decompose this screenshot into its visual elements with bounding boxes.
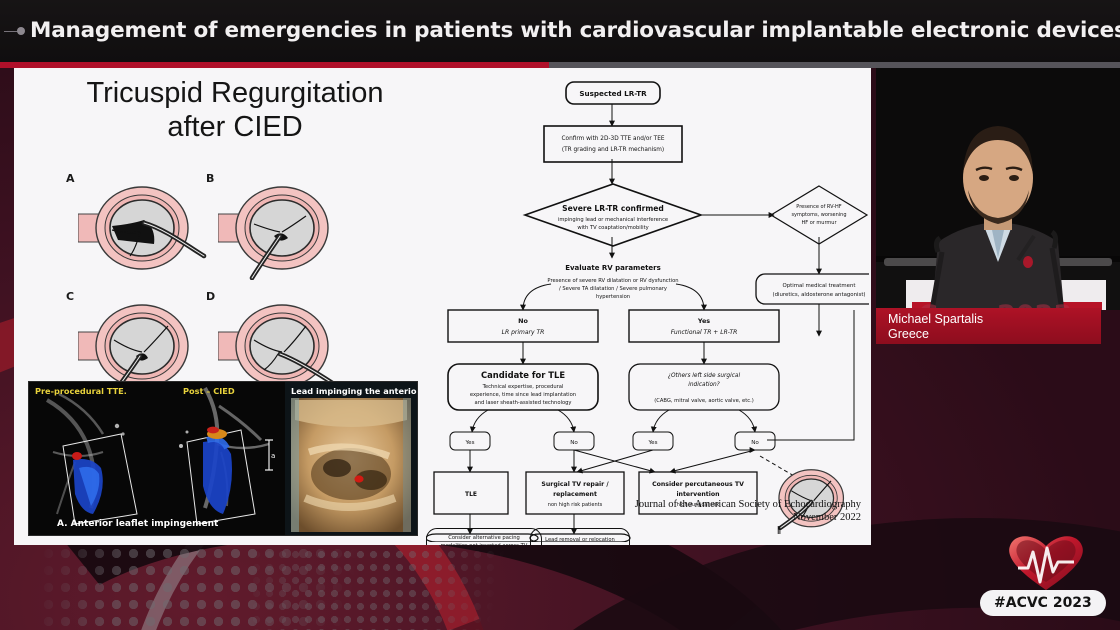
svg-text:replacement: replacement [553, 491, 597, 498]
svg-text:(TR grading and LR-TR mechanis: (TR grading and LR-TR mechanism) [562, 147, 664, 153]
journal-credit: Journal of the American Society of Echoc… [635, 498, 861, 524]
speaker-country: Greece [888, 327, 929, 341]
svg-text:No: No [570, 440, 578, 446]
svg-text:hypertension: hypertension [596, 294, 630, 300]
echocardiography-image-strip: Pre-procedural TTE. [28, 381, 418, 536]
valve-label-b: B [206, 172, 214, 185]
svg-text:(diuretics, aldosterone antago: (diuretics, aldosterone antagonist) [772, 292, 865, 298]
svg-text:Yes: Yes [464, 440, 474, 446]
lr-tr-algorithm-flowchart: Suspected LR-TR Confirm with 2D-3D TTE a… [426, 74, 869, 542]
speaker-video-feed[interactable] [876, 66, 1120, 310]
svg-text:Confirm with 2D-3D TTE and/or: Confirm with 2D-3D TTE and/or TEE [561, 136, 664, 142]
valve-diagram-c: C [66, 290, 206, 395]
svg-text:impinging lead or mechanical i: impinging lead or mechanical interferenc… [558, 217, 668, 223]
slide-canvas: Tricuspid Regurgitation after CIED A B [14, 68, 871, 545]
speaker-video-frame [876, 66, 1120, 310]
flow-node-alternative-pacing-l1: Consider alternative pacing [427, 534, 541, 542]
echo-pane-post-cied: a Post – CIED [157, 382, 285, 536]
svg-text:Yes: Yes [697, 317, 710, 325]
svg-text:No: No [518, 317, 528, 325]
svg-text:with TV coaptation/mobility: with TV coaptation/mobility [577, 225, 648, 231]
svg-text:No: No [751, 440, 759, 446]
valve-label-d: D [206, 290, 215, 303]
svg-text:Optimal medical treatment: Optimal medical treatment [782, 283, 855, 289]
svg-text:(CABG, mitral valve, aortic va: (CABG, mitral valve, aortic valve, etc.) [654, 398, 754, 404]
flow-node-lead-removal: Lead removal or relocation at non interf… [530, 528, 630, 545]
echo-pane-pre-procedural: Pre-procedural TTE. [29, 382, 157, 536]
heart-ecg-icon [1000, 528, 1092, 594]
echo-image-post-cied: a [157, 382, 285, 536]
flow-node-lead-removal-l2: at non interfering position [531, 545, 629, 546]
journal-date: November 2022 [635, 511, 861, 524]
valve-illustration-b [218, 180, 353, 280]
speaker-name: Michael Spartalis [888, 312, 983, 326]
valve-label-c: C [66, 290, 74, 303]
presentation-title-bar: Management of emergencies in patients wi… [0, 0, 1120, 62]
flow-node-alternative-pacing-l2: modalities not inserted across TV [427, 542, 541, 545]
svg-text:Candidate for TLE: Candidate for TLE [481, 370, 565, 380]
echo-caption-post-cied: Post – CIED [183, 386, 235, 396]
bullet-dot-icon [4, 29, 26, 33]
slide-heading-line-1: Tricuspid Regurgitation [40, 76, 430, 110]
page-title: Management of emergencies in patients wi… [30, 18, 1090, 43]
svg-text:¿Others left side surgical: ¿Others left side surgical [668, 373, 741, 379]
valve-illustration-a [78, 180, 213, 280]
flow-node-alternative-pacing: Consider alternative pacing modalities n… [426, 528, 542, 545]
journal-mark: ‖ [777, 523, 781, 538]
svg-text:Technical expertise, procedura: Technical expertise, procedural [482, 384, 564, 390]
svg-text:HF or murmur: HF or murmur [801, 220, 837, 226]
svg-text:Presence of severe RV dilatat: Presence of severe RV dilatation or RV d… [547, 278, 678, 284]
svg-text:non high risk patients: non high risk patients [548, 502, 603, 508]
video-progress-fill [0, 62, 549, 68]
journal-name: Journal of the American Society of Echoc… [635, 498, 861, 511]
svg-text:Severe LR-TR confirmed: Severe LR-TR confirmed [562, 204, 664, 213]
svg-text:LR primary TR: LR primary TR [502, 329, 545, 336]
svg-text:Yes: Yes [647, 440, 657, 446]
echo-caption-3d-lead: Lead impinging the anterior leaflet [291, 386, 417, 396]
acvc-hashtag-badge: #ACVC 2023 [980, 590, 1106, 616]
echo-image-3d-lead [285, 382, 417, 536]
svg-text:/ Severe TA dilatation / Sever: / Severe TA dilatation / Severe pulmonar… [559, 286, 667, 292]
svg-text:and laser sheath-assisted tech: and laser sheath-assisted technology [475, 400, 572, 406]
svg-text:intervention: intervention [676, 491, 719, 498]
slide-heading: Tricuspid Regurgitation after CIED [40, 76, 430, 144]
echo-pane-3d-lead: Lead impinging the anterior leaflet [285, 382, 417, 536]
acvc-branding: #ACVC 2023 [970, 528, 1110, 620]
svg-text:Suspected LR-TR: Suspected LR-TR [579, 89, 647, 98]
valve-diagram-d: D [206, 290, 346, 395]
svg-text:symptoms, worsening: symptoms, worsening [791, 212, 846, 218]
valve-diagram-b: B [206, 172, 346, 277]
echo-caption-pre-procedural: Pre-procedural TTE. [35, 386, 127, 396]
svg-text:Surgical TV repair /: Surgical TV repair / [541, 481, 609, 488]
svg-text:a: a [271, 452, 275, 460]
svg-text:Functional TR + LR-TR: Functional TR + LR-TR [671, 329, 738, 336]
svg-text:Evaluate RV parameters: Evaluate RV parameters [565, 264, 661, 272]
valve-diagram-a: A [66, 172, 206, 277]
svg-text:indication?: indication? [688, 382, 720, 388]
speaker-nameplate: Michael Spartalis Greece [876, 308, 1101, 344]
backdrop-dot-pattern-2 [250, 535, 510, 630]
svg-text:TLE: TLE [465, 491, 477, 498]
slide-heading-line-2: after CIED [40, 110, 430, 144]
flowchart-graphic: Suspected LR-TR Confirm with 2D-3D TTE a… [426, 74, 869, 542]
svg-text:experience, time since lead im: experience, time since lead implantation [470, 392, 576, 398]
svg-text:Consider percutaneous TV: Consider percutaneous TV [652, 481, 744, 488]
echo-caption-bottom: A. Anterior leaflet impingement [57, 519, 218, 529]
svg-text:Presence of RV-HF: Presence of RV-HF [796, 204, 842, 210]
valve-label-a: A [66, 172, 75, 185]
video-progress-bar[interactable] [0, 62, 1120, 68]
flow-node-lead-removal-l1: Lead removal or relocation [531, 536, 629, 545]
echo-image-pre-procedural [29, 382, 157, 536]
